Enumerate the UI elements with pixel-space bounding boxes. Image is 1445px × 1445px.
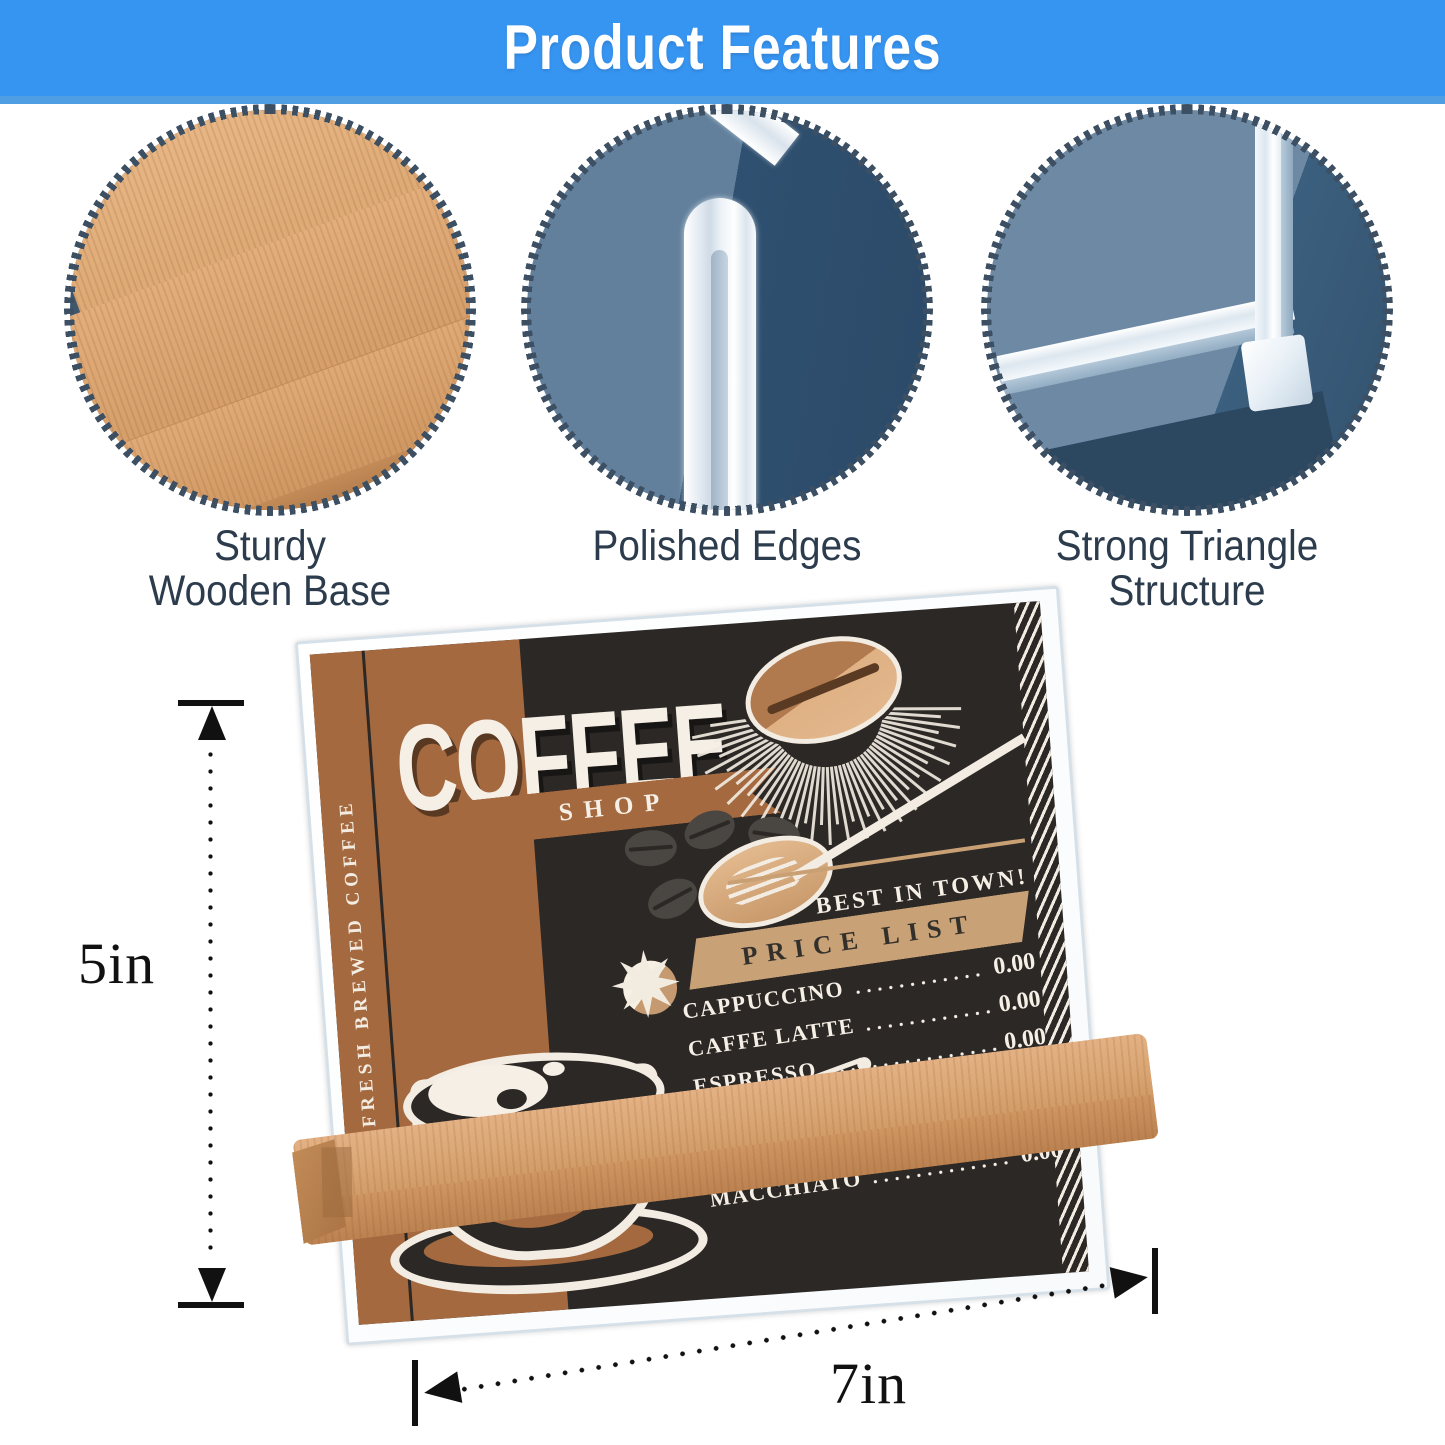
width-dimension-label: 7in	[830, 1350, 907, 1417]
width-dimension-line	[404, 1262, 1164, 1432]
star-icon	[600, 938, 692, 1030]
arrow-right-icon	[1110, 1261, 1151, 1298]
arrow-down-icon	[198, 1268, 226, 1302]
arrow-up-icon	[198, 706, 226, 740]
height-dimension-line	[196, 700, 226, 1308]
height-dimension-label: 5in	[78, 930, 155, 997]
product-infographic: Product Features Sturdy Wooden Base	[0, 0, 1445, 1445]
price-item-value: 0.00	[992, 948, 1037, 981]
price-item-value: 0.00	[997, 985, 1042, 1018]
